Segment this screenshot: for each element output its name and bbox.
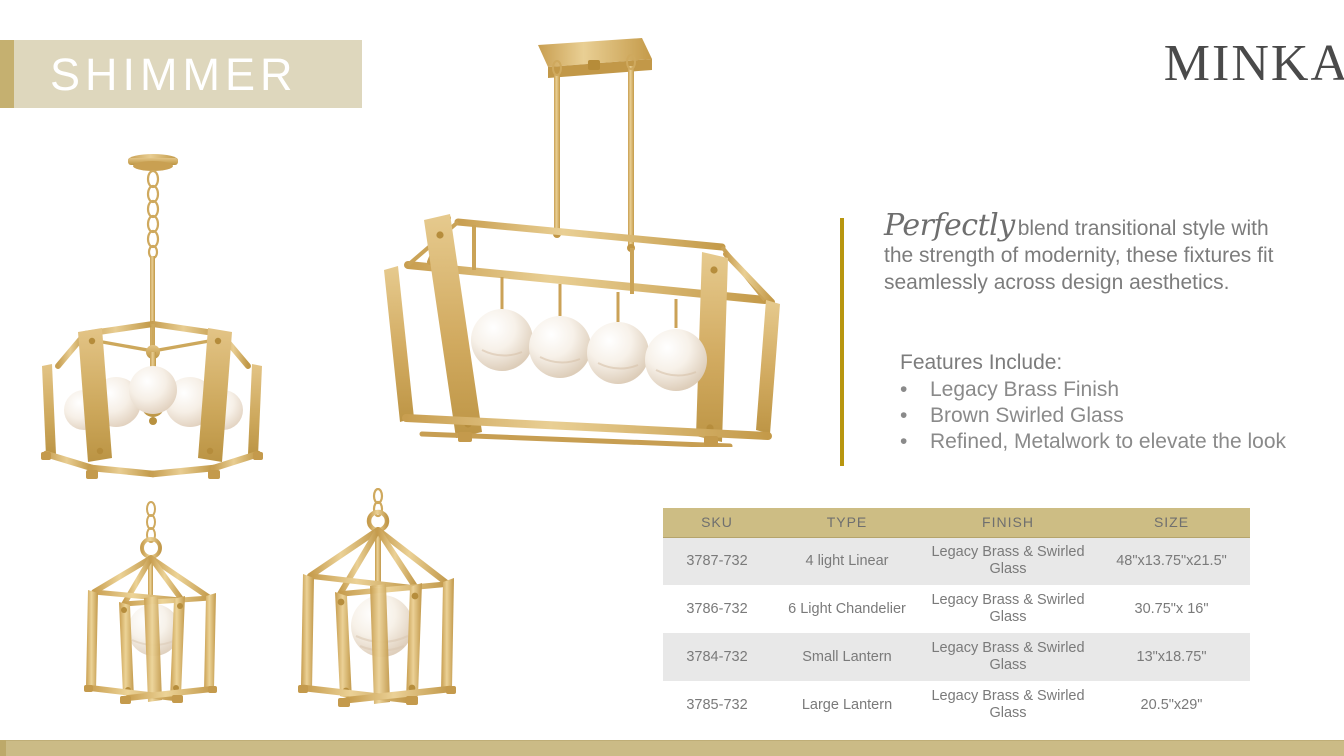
cell-sku: 3784-732 xyxy=(663,633,771,681)
copy-script-word: Perfectly xyxy=(884,208,1018,243)
bullet-icon: • xyxy=(900,377,930,403)
table-row: 3787-732 4 light Linear Legacy Brass & S… xyxy=(663,537,1250,585)
brand-logo: MINKA xyxy=(1164,36,1344,92)
copy-accent-rule xyxy=(840,218,844,466)
product-image-6-light-chandelier xyxy=(20,138,290,488)
footer-bar-accent xyxy=(0,740,6,756)
product-sheet-page: SHIMMER MINKA xyxy=(0,0,1344,756)
cell-type: Small Lantern xyxy=(771,633,923,681)
cell-size: 13"x18.75" xyxy=(1093,633,1250,681)
column-header-size: SIZE xyxy=(1093,508,1250,537)
column-header-finish: FINISH xyxy=(923,508,1093,537)
column-header-sku: SKU xyxy=(663,508,771,537)
features-list: Features Include: • Legacy Brass Finish … xyxy=(900,348,1300,455)
cell-type: Large Lantern xyxy=(771,681,923,729)
page-title: SHIMMER xyxy=(50,47,298,103)
cell-size: 30.75"x 16" xyxy=(1093,585,1250,633)
feature-label: Refined, Metalwork to elevate the look xyxy=(930,429,1300,455)
bullet-icon: • xyxy=(900,403,930,429)
product-image-4-light-linear xyxy=(370,22,820,447)
feature-item: • Brown Swirled Glass xyxy=(900,403,1300,429)
cell-finish: Legacy Brass & Swirled Glass xyxy=(923,633,1093,681)
bullet-icon: • xyxy=(900,429,930,455)
banner-accent-stripe xyxy=(0,40,14,108)
copy-paragraph: Perfectlyblend transitional style with t… xyxy=(884,212,1284,296)
feature-item: • Refined, Metalwork to elevate the look xyxy=(900,429,1300,455)
product-image-small-lantern xyxy=(62,500,262,745)
table-header-row: SKU TYPE FINISH SIZE xyxy=(663,508,1250,537)
cell-size: 48"x13.75"x21.5" xyxy=(1093,537,1250,585)
table-row: 3786-732 6 Light Chandelier Legacy Brass… xyxy=(663,585,1250,633)
table-row: 3784-732 Small Lantern Legacy Brass & Sw… xyxy=(663,633,1250,681)
cell-sku: 3786-732 xyxy=(663,585,771,633)
features-title: Features Include: xyxy=(900,348,1300,377)
feature-label: Brown Swirled Glass xyxy=(930,403,1300,429)
cell-sku: 3787-732 xyxy=(663,537,771,585)
product-image-large-lantern xyxy=(282,488,494,743)
table-row: 3785-732 Large Lantern Legacy Brass & Sw… xyxy=(663,681,1250,729)
specification-table: SKU TYPE FINISH SIZE 3787-732 4 light Li… xyxy=(663,508,1250,729)
feature-label: Legacy Brass Finish xyxy=(930,377,1300,403)
feature-item: • Legacy Brass Finish xyxy=(900,377,1300,403)
cell-size: 20.5"x29" xyxy=(1093,681,1250,729)
footer-bar xyxy=(0,740,1344,756)
cell-finish: Legacy Brass & Swirled Glass xyxy=(923,537,1093,585)
cell-finish: Legacy Brass & Swirled Glass xyxy=(923,585,1093,633)
column-header-type: TYPE xyxy=(771,508,923,537)
cell-finish: Legacy Brass & Swirled Glass xyxy=(923,681,1093,729)
cell-type: 4 light Linear xyxy=(771,537,923,585)
cell-type: 6 Light Chandelier xyxy=(771,585,923,633)
cell-sku: 3785-732 xyxy=(663,681,771,729)
marketing-copy: Perfectlyblend transitional style with t… xyxy=(884,212,1284,296)
